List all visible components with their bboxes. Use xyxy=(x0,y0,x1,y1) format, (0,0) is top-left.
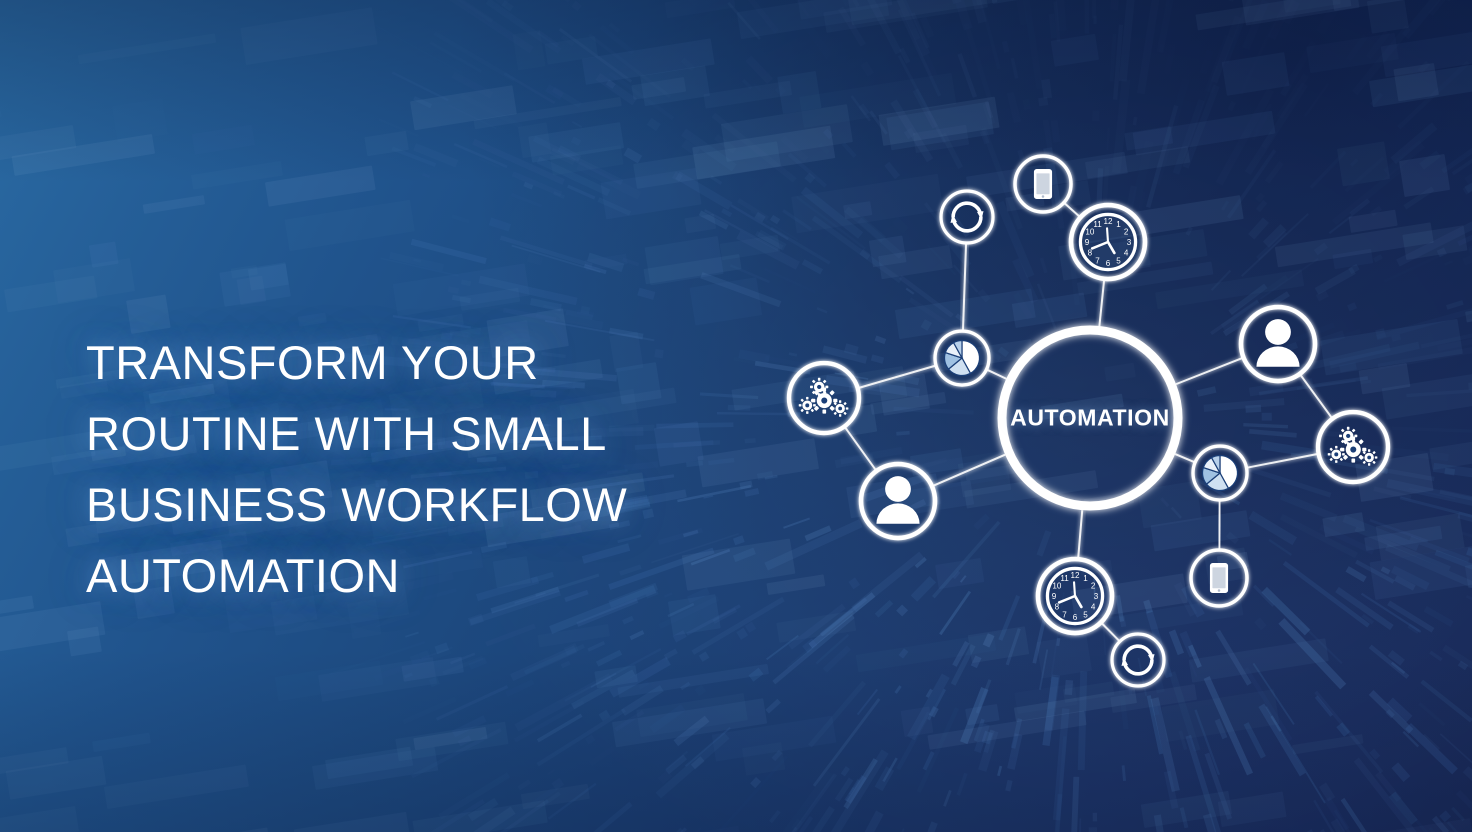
phone-icon xyxy=(1210,563,1228,593)
pie-chart-icon xyxy=(1203,456,1238,491)
svg-text:5: 5 xyxy=(1083,610,1088,619)
gears-icon xyxy=(1328,427,1378,466)
pie-chart-icon xyxy=(945,341,980,376)
hero-banner: TRANSFORM YOUR ROUTINE WITH SMALL BUSINE… xyxy=(0,0,1472,832)
svg-text:1: 1 xyxy=(1116,220,1121,229)
svg-text:6: 6 xyxy=(1106,259,1111,268)
refresh-icon xyxy=(950,203,983,231)
svg-text:9: 9 xyxy=(1085,238,1090,247)
svg-text:3: 3 xyxy=(1094,592,1099,601)
svg-text:10: 10 xyxy=(1052,582,1061,591)
svg-text:7: 7 xyxy=(1095,256,1100,265)
svg-text:11: 11 xyxy=(1093,220,1102,229)
svg-text:7: 7 xyxy=(1062,610,1067,619)
svg-text:10: 10 xyxy=(1085,228,1094,237)
clock-icon: 121234567891011 xyxy=(1080,214,1135,269)
svg-text:11: 11 xyxy=(1060,574,1069,583)
svg-text:1: 1 xyxy=(1083,574,1088,583)
person-icon xyxy=(1256,319,1299,367)
person-icon xyxy=(876,476,919,524)
refresh-icon xyxy=(1121,646,1154,674)
svg-text:2: 2 xyxy=(1124,228,1129,237)
svg-text:4: 4 xyxy=(1091,603,1096,612)
automation-network-diagram: 121234567891011121234567891011 xyxy=(0,0,1472,832)
network-node-refresh-bottom[interactable] xyxy=(1112,634,1164,686)
network-node-refresh-top[interactable] xyxy=(941,191,993,243)
svg-text:5: 5 xyxy=(1116,256,1121,265)
svg-text:8: 8 xyxy=(1088,249,1093,258)
svg-text:3: 3 xyxy=(1127,238,1132,247)
svg-text:8: 8 xyxy=(1055,603,1060,612)
svg-text:2: 2 xyxy=(1091,582,1096,591)
svg-text:6: 6 xyxy=(1073,613,1078,622)
svg-text:9: 9 xyxy=(1052,592,1057,601)
clock-icon: 121234567891011 xyxy=(1047,568,1102,623)
hub-label: AUTOMATION xyxy=(1010,405,1170,432)
svg-text:4: 4 xyxy=(1124,249,1129,258)
svg-text:12: 12 xyxy=(1104,217,1113,226)
svg-text:12: 12 xyxy=(1071,571,1080,580)
gears-icon xyxy=(799,378,849,417)
phone-icon xyxy=(1034,169,1052,199)
